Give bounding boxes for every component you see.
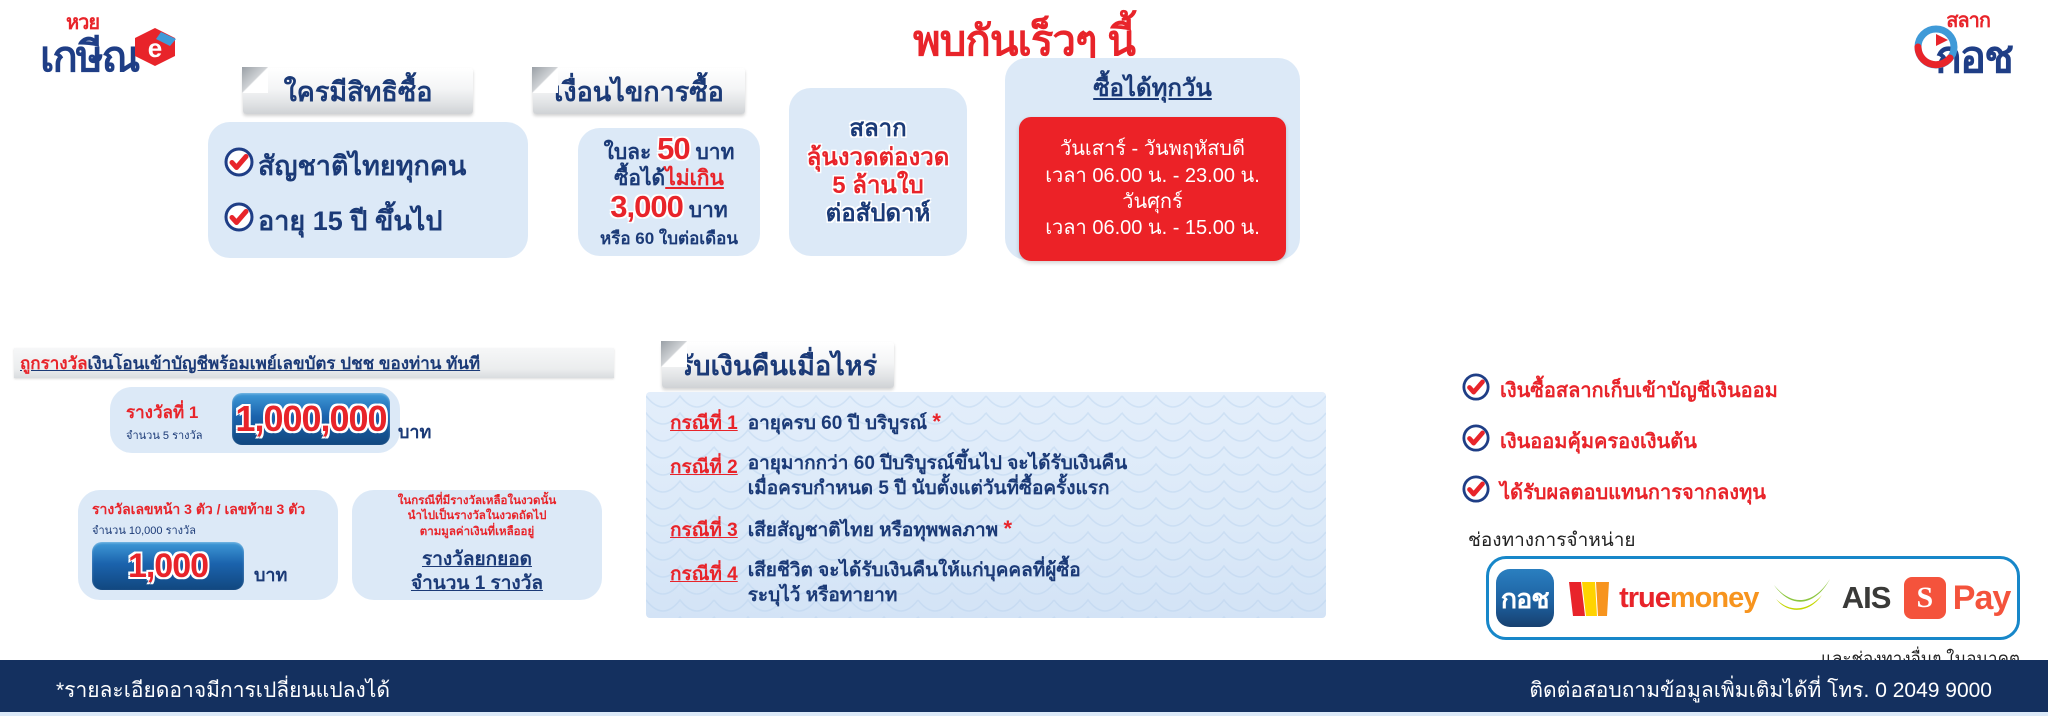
eligibility-ribbon-title: ใครมีสิทธิซื้อ (243, 68, 473, 114)
eligibility-item-2-label: อายุ 15 ปี ขึ้นไป (258, 199, 443, 242)
conditions-price-prefix: ใบละ (604, 141, 652, 164)
eligibility-item-1: สัญชาติไทยทุกคน (224, 144, 528, 187)
refund-case-1-line-1: อายุครบ 60 ปี บริบูรณ์ (748, 413, 927, 434)
refund-case-3: กรณีที่ 3 เสียสัญชาติไทย หรือทุพพลภาพ * (670, 515, 1326, 545)
prize-first-label: รางวัลที่ 1 (126, 399, 202, 426)
conditions-limit-highlight: ไม่เกิน (665, 167, 724, 190)
refund-case-4: กรณีที่ 4 เสียชีวิต จะได้รับเงินคืนให้แก… (670, 559, 1326, 608)
draw-line-3: 5 ล้านใบ (832, 173, 924, 199)
eligibility-card: สัญชาติไทยทุกคน อายุ 15 ปี ขึ้นไป (208, 122, 528, 258)
refund-case-3-text: เสียสัญชาติไทย หรือทุพพลภาพ * (748, 515, 1012, 544)
conditions-max-value: 3,000 (610, 189, 683, 224)
conditions-price-line: ใบละ 50 บาท (604, 132, 735, 167)
refund-case-4-line-2: ระบุไว้ หรือทายาท (748, 585, 898, 606)
benefit-item-2: เงินออมคุ้มครองเงินต้น (1462, 424, 1697, 457)
prize-three-digit-unit: บาท (254, 560, 287, 589)
conditions-price-value: 50 (657, 131, 689, 166)
check-circle-icon (224, 202, 254, 239)
conditions-ribbon-title: เงื่อนไขการซื้อ (533, 68, 745, 114)
conditions-max-unit: บาท (689, 199, 728, 222)
truemoney-wordmark: truemoney (1619, 582, 1758, 615)
draw-line-2: ลุ้นงวดต่องวด (807, 145, 950, 171)
footer-disclaimer: *รายละเอียดอาจมีการเปลี่ยนแปลงได้ (56, 674, 390, 707)
spay-badge-icon: S (1904, 577, 1946, 619)
draw-line-4: ต่อสัปดาห์ (826, 201, 931, 227)
prize-first-unit: บาท (398, 417, 431, 446)
prize-rollover-title-2: จำนวน 1 รางวัล (411, 572, 543, 596)
hours-line-3: วันศุกร์ (1122, 189, 1182, 215)
hours-title: ซื้อได้ทุกวัน (1005, 68, 1300, 107)
prize-three-digit-card: รางวัลเลขหน้า 3 ตัว / เลขท้าย 3 ตัว จำนว… (78, 490, 338, 600)
conditions-limit-prefix: ซื้อได้ (614, 167, 665, 190)
spay-badge-letter: S (1916, 581, 1933, 615)
refund-case-1-asterisk: * (932, 409, 941, 434)
refund-case-4-text: เสียชีวิต จะได้รับเงินคืนให้แก่บุคคลที่ผ… (748, 559, 1081, 608)
prize-first-amount: 1,000,000 (235, 398, 386, 440)
truemoney-word-money: money (1670, 582, 1758, 614)
draw-card: สลาก ลุ้นงวดต่องวด 5 ล้านใบ ต่อสัปดาห์ (789, 88, 967, 256)
spay-logo[interactable]: S Pay (1904, 577, 2011, 619)
refund-case-4-line-1: เสียชีวิต จะได้รับเงินคืนให้แก่บุคคลที่ผ… (748, 560, 1081, 581)
prize-three-digit-amount-plate: 1,000 (92, 542, 244, 590)
prize-transfer-rest: เงินโอนเข้าบัญชีพร้อมเพย์เลขบัตร ปชช ของ… (88, 354, 481, 373)
prize-first-label-group: รางวัลที่ 1 จำนวน 5 รางวัล (126, 399, 202, 444)
eligibility-item-1-label: สัญชาติไทยทุกคน (258, 144, 466, 187)
eligibility-item-2: อายุ 15 ปี ขึ้นไป (224, 199, 528, 242)
prize-first-card: รางวัลที่ 1 จำนวน 5 รางวัล 1,000,000 บาท (110, 387, 400, 453)
hours-line-4: เวลา 06.00 น. - 15.00 น. (1045, 215, 1260, 241)
refund-cases-card: กรณีที่ 1 อายุครบ 60 ปี บริบูรณ์ * กรณีท… (646, 392, 1326, 618)
prize-rollover-title-1: รางวัลยกยอด (422, 548, 532, 572)
hours-card: ซื้อได้ทุกวัน วันเสาร์ - วันพฤหัสบดี เวล… (1005, 58, 1300, 260)
refund-case-2-line-2: เมื่อครบกำหนด 5 ปี นับตั้งแต่วันที่ซื้อค… (748, 478, 1110, 499)
benefit-item-3: ได้รับผลตอบแทนการจากลงทุน (1462, 475, 1766, 508)
check-circle-icon (1462, 424, 1490, 457)
refund-ribbon-title: รับเงินคืนเมื่อไหร่ (662, 342, 894, 388)
refund-case-3-asterisk: * (1003, 516, 1012, 541)
prize-first-count: จำนวน 5 รางวัล (126, 426, 202, 444)
refund-case-4-tag: กรณีที่ 4 (670, 559, 738, 589)
refund-case-2-line-1: อายุมากกว่า 60 ปีบริบูรณ์ขึ้นไป จะได้รับ… (748, 453, 1128, 474)
benefit-item-3-label: ได้รับผลตอบแทนการจากลงทุน (1500, 476, 1766, 508)
benefit-item-2-label: เงินออมคุ้มครองเงินต้น (1500, 425, 1697, 457)
prize-three-digit-count: จำนวน 10,000 รางวัล (92, 521, 196, 539)
refund-case-3-line-1: เสียสัญชาติไทย หรือทุพพลภาพ (748, 520, 998, 541)
conditions-limit-line: ซื้อได้ไม่เกิน (614, 167, 724, 191)
conditions-price-unit: บาท (695, 141, 734, 164)
gsb-app-icon[interactable]: กอช (1496, 569, 1554, 627)
check-circle-icon (1462, 373, 1490, 406)
footer-contact: ติดต่อสอบถามข้อมูลเพิ่มเติมได้ที่ โทร. 0… (1529, 674, 1992, 707)
ais-wordmark: AIS (1842, 580, 1891, 616)
prize-rollover-note-2: นำไปเป็นรางวัลในงวดถัดไป (408, 509, 547, 524)
hours-line-2: เวลา 06.00 น. - 23.00 น. (1045, 163, 1260, 189)
conditions-max-line: 3,000 บาท (610, 190, 727, 225)
draw-line-1: สลาก (849, 116, 906, 142)
refund-case-1-text: อายุครบ 60 ปี บริบูรณ์ * (748, 408, 941, 437)
gsb-app-icon-label: กอช (1501, 577, 1549, 620)
benefit-item-1-label: เงินซื้อสลากเก็บเข้าบัญชีเงินออม (1500, 374, 1778, 406)
channels-label: ช่องทางการจำหน่าย (1468, 525, 1636, 555)
prize-three-digit-label: รางวัลเลขหน้า 3 ตัว / เลขท้าย 3 ตัว (92, 499, 305, 521)
ais-mark-icon (1772, 575, 1834, 622)
truemoney-logo[interactable]: truemoney (1567, 576, 1758, 620)
refund-case-3-tag: กรณีที่ 3 (670, 515, 738, 545)
infographic-root: หวย เกษีณ e สลาก กอช พบกันเร็วๆ นี้ ใครม… (0, 0, 2048, 716)
truemoney-mark-icon (1567, 576, 1613, 620)
spay-wordmark: Pay (1953, 579, 2011, 618)
prize-first-amount-plate: 1,000,000 (232, 393, 390, 445)
prize-transfer-highlight: ถูกรางวัล (20, 354, 88, 373)
check-circle-icon (1462, 475, 1490, 508)
refund-case-1-tag: กรณีที่ 1 (670, 408, 738, 438)
refund-case-2-tag: กรณีที่ 2 (670, 452, 738, 482)
prize-rollover-card: ในกรณีที่มีรางวัลเหลือในงวดนั้น นำไปเป็น… (352, 490, 602, 600)
hours-line-1: วันเสาร์ - วันพฤหัสบดี (1060, 136, 1245, 162)
channels-box: กอช truemoney AIS S (1486, 556, 2020, 640)
truemoney-word-true: true (1619, 582, 1670, 614)
prize-rollover-note-1: ในกรณีที่มีรางวัลเหลือในงวดนั้น (398, 494, 556, 509)
check-circle-icon (224, 147, 254, 184)
prize-transfer-text: ถูกรางวัลเงินโอนเข้าบัญชีพร้อมเพย์เลขบัต… (14, 350, 480, 377)
prize-rollover-note-3: ตามมูลค่าเงินที่เหลืออยู่ (420, 525, 534, 540)
ais-logo[interactable]: AIS (1772, 575, 1891, 622)
conditions-monthly-note: หรือ 60 ใบต่อเดือน (600, 225, 738, 252)
benefit-item-1: เงินซื้อสลากเก็บเข้าบัญชีเงินออม (1462, 373, 1778, 406)
refund-case-2: กรณีที่ 2 อายุมากกว่า 60 ปีบริบูรณ์ขึ้นไ… (670, 452, 1326, 501)
prize-transfer-band: ถูกรางวัลเงินโอนเข้าบัญชีพร้อมเพย์เลขบัต… (14, 348, 614, 378)
footer-bar: *รายละเอียดอาจมีการเปลี่ยนแปลงได้ ติดต่อ… (0, 660, 2048, 716)
prize-three-digit-amount: 1,000 (128, 547, 208, 586)
conditions-card: ใบละ 50 บาท ซื้อได้ไม่เกิน 3,000 บาท หรื… (578, 128, 760, 256)
hours-red-panel: วันเสาร์ - วันพฤหัสบดี เวลา 06.00 น. - 2… (1019, 117, 1286, 261)
refund-case-2-text: อายุมากกว่า 60 ปีบริบูรณ์ขึ้นไป จะได้รับ… (748, 452, 1128, 501)
refund-case-1: กรณีที่ 1 อายุครบ 60 ปี บริบูรณ์ * (670, 408, 1326, 438)
footer-underline (0, 712, 2048, 716)
